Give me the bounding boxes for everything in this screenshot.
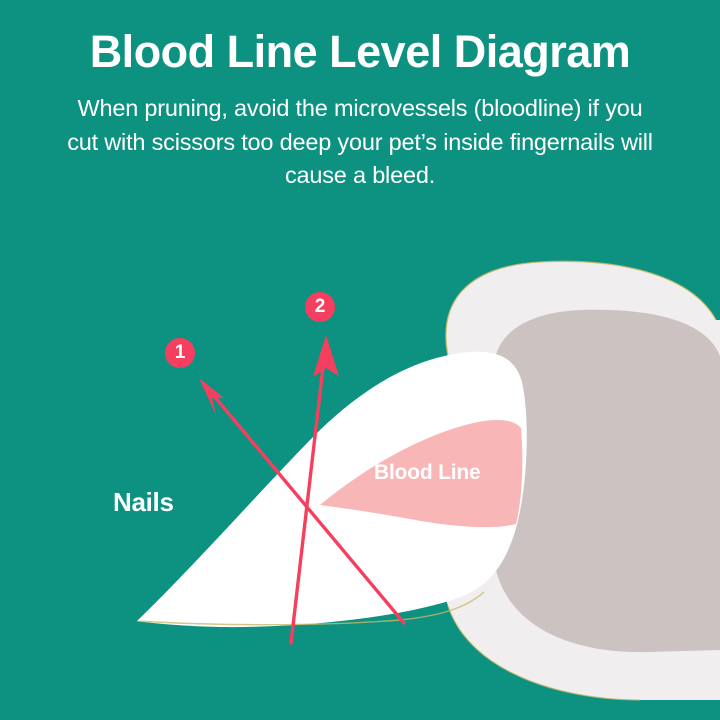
marker-badge-1: 1 bbox=[165, 338, 195, 368]
marker-badge-2: 2 bbox=[305, 292, 335, 322]
header: Blood Line Level Diagram When pruning, a… bbox=[0, 0, 720, 192]
page-title: Blood Line Level Diagram bbox=[0, 0, 720, 75]
diagram-poster: Blood Line Level Diagram When pruning, a… bbox=[0, 0, 720, 720]
label-nails: Nails bbox=[113, 487, 174, 518]
label-blood-line: Blood Line bbox=[374, 461, 481, 485]
page-subtitle: When pruning, avoid the microvessels (bl… bbox=[60, 75, 660, 192]
paw-inner-pad bbox=[490, 310, 720, 652]
